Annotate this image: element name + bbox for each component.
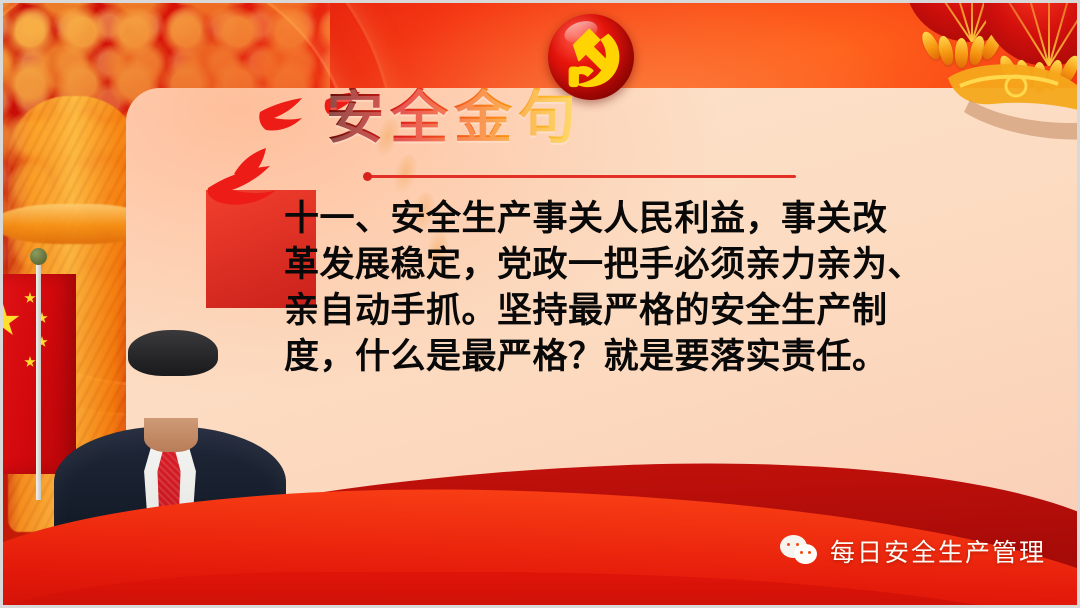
quote-body: 十一、安全生产事关人民利益，事关改 革发展稳定，党政一把手必须亲力亲为、 亲自动… [284, 196, 936, 380]
wechat-bubble-small [794, 544, 817, 564]
quote-line: 亲自动手抓。坚持最严格的安全生产制 [284, 288, 936, 334]
lantern-knot [930, 56, 1080, 152]
quote-line: 十一、安全生产事关人民利益，事关改 [284, 196, 936, 242]
quote-line: 度，什么是最严格？就是要落实责任。 [284, 334, 936, 380]
flag-star-big [0, 304, 20, 338]
watermark-text: 每日安全生产管理 [830, 533, 1046, 569]
slide-canvas: 安全金句 十一、安全生产事关人民利益，事关改 革发展稳定，党政一把手必须亲力亲为… [0, 0, 1080, 608]
portrait-hair [128, 330, 218, 376]
title-divider [368, 175, 796, 178]
wheat-decor [389, 152, 421, 197]
wechat-icon [780, 535, 820, 567]
flag-pole-knob [30, 248, 47, 265]
flag-star-small [24, 292, 36, 304]
flag-star-small [24, 356, 36, 368]
flag-pole [36, 254, 41, 500]
quote-line: 革发展稳定，党政一把手必须亲力亲为、 [284, 242, 936, 288]
page-title: 安全金句 [326, 88, 582, 146]
watermark: 每日安全生产管理 [780, 533, 1046, 569]
